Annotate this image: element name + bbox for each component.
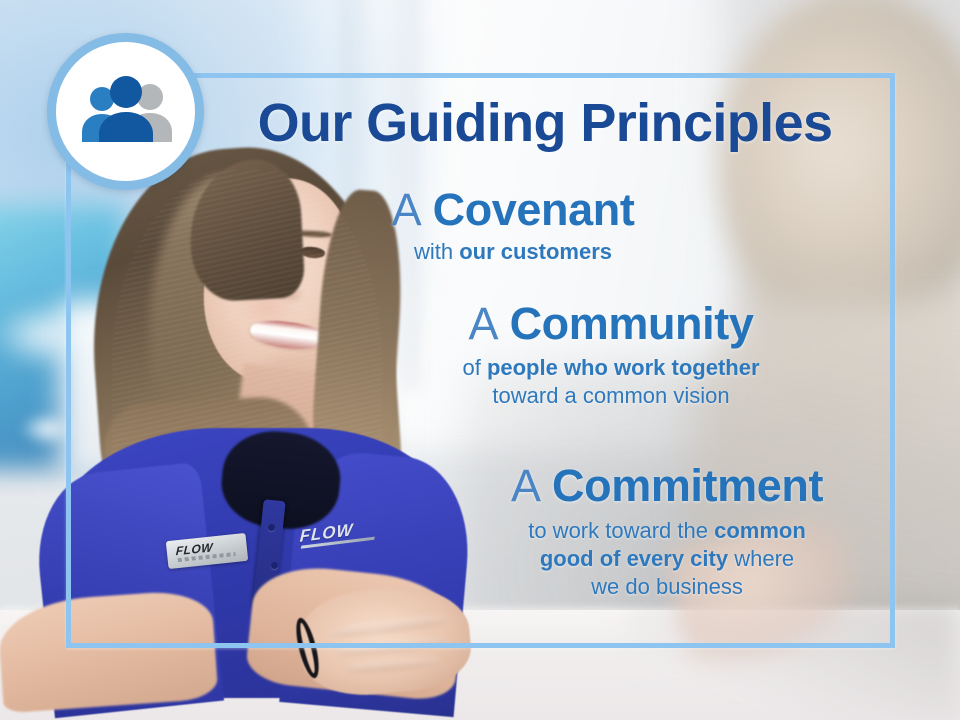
people-group-icon: [74, 73, 178, 151]
badge-circle: [47, 33, 204, 190]
shirt-button-top: [268, 524, 275, 531]
customer-head: [720, 0, 960, 320]
employee-arm-left: [0, 589, 219, 714]
shirt-button-bottom: [271, 562, 278, 569]
guiding-principles-graphic: FLOW FLOW: [0, 0, 960, 720]
